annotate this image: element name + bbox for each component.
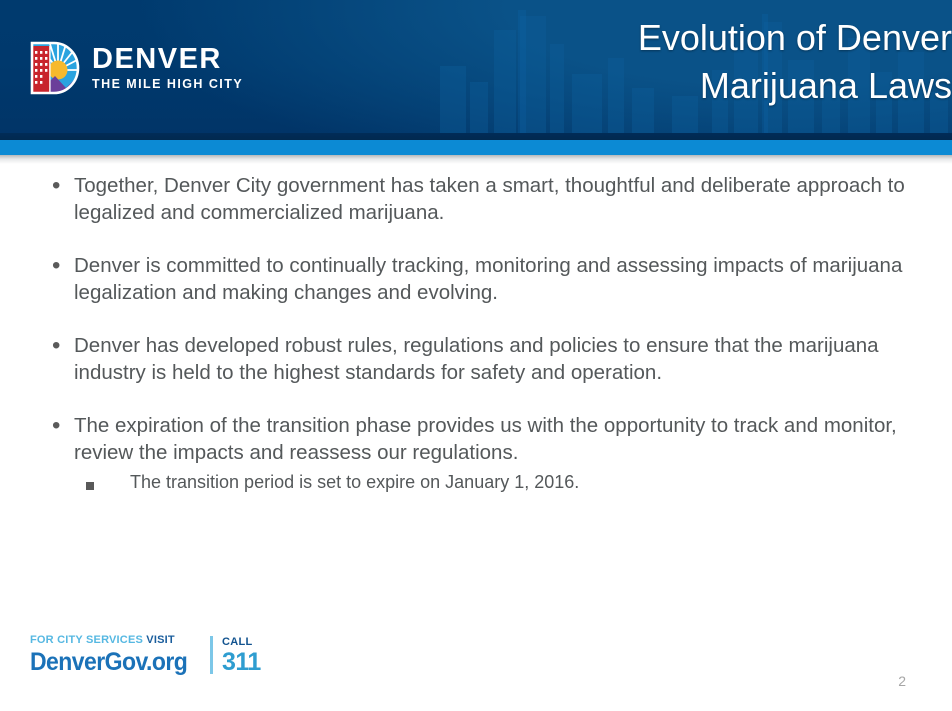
denvergov-footer-logo[interactable]: FOR CITY SERVICES VISIT DenverGov.org CA… (30, 630, 261, 675)
list-item-text: Denver is committed to continually track… (74, 252, 924, 306)
footer-tagline-bold: VISIT (146, 634, 175, 646)
footer-tagline-light: FOR CITY SERVICES (30, 634, 146, 646)
footer-call-label: CALL (222, 636, 261, 648)
bullet-marker-icon: • (44, 332, 74, 359)
list-item-text: The expiration of the transition phase p… (74, 412, 924, 466)
list-item-text: Denver has developed robust rules, regul… (74, 332, 924, 386)
footer-call-number: 311 (222, 649, 261, 675)
header-drop-shadow (0, 155, 952, 164)
denver-wordmark: DENVER THE MILE HIGH CITY (92, 45, 243, 91)
header-dark-band (0, 133, 952, 140)
list-item: • Denver is committed to continually tra… (44, 252, 924, 306)
bullet-marker-icon: • (44, 172, 74, 199)
denver-logo: DENVER THE MILE HIGH CITY (28, 40, 243, 96)
sub-list-item: The transition period is set to expire o… (86, 470, 924, 495)
sub-bullet-marker-icon (86, 470, 130, 495)
page-title-line-1: Evolution of Denver (332, 14, 952, 62)
sub-list-item-text: The transition period is set to expire o… (130, 470, 924, 494)
denver-d-emblem-icon (28, 40, 82, 96)
header-accent-bar (0, 140, 952, 155)
slide: Evolution of Denver Marijuana Laws (0, 0, 952, 711)
footer-call-block: CALL 311 (222, 636, 261, 675)
bullet-marker-icon: • (44, 412, 74, 439)
bullet-marker-icon: • (44, 252, 74, 279)
denver-wordmark-name: DENVER (92, 45, 243, 74)
list-item: • Together, Denver City government has t… (44, 172, 924, 226)
footer-url-block: FOR CITY SERVICES VISIT DenverGov.org (30, 630, 201, 675)
footer-divider (210, 636, 213, 674)
page-title-line-2: Marijuana Laws (332, 62, 952, 110)
list-item: • Denver has developed robust rules, reg… (44, 332, 924, 386)
slide-body: • Together, Denver City government has t… (44, 172, 924, 495)
slide-header: Evolution of Denver Marijuana Laws (0, 0, 952, 140)
page-title: Evolution of Denver Marijuana Laws (332, 14, 952, 110)
list-item-text: Together, Denver City government has tak… (74, 172, 924, 226)
footer-tagline: FOR CITY SERVICES VISIT (30, 634, 175, 646)
denver-wordmark-tagline: THE MILE HIGH CITY (92, 78, 243, 91)
list-item: • The expiration of the transition phase… (44, 412, 924, 466)
footer-url[interactable]: DenverGov.org (30, 649, 187, 675)
page-number: 2 (898, 673, 906, 689)
